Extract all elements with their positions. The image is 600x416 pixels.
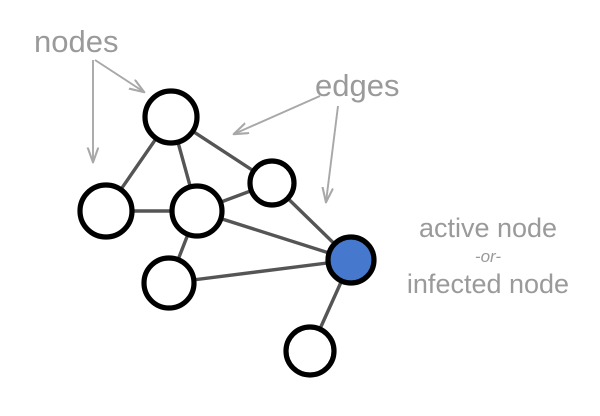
edges-arrow-upper-left <box>234 96 320 134</box>
nodes-arrow-to-top-node <box>95 60 144 92</box>
legend-infected-node-label: infected node <box>388 270 588 299</box>
node-center[interactable] <box>172 186 222 236</box>
nodes-layer <box>80 91 374 375</box>
edges-layer <box>106 117 351 351</box>
node-left[interactable] <box>80 185 132 237</box>
nodes-annotation-label: nodes <box>34 26 118 57</box>
diagram-canvas: nodes edges active node -or- infected no… <box>0 0 600 416</box>
annotation-arrows-layer <box>93 60 338 202</box>
node-bottom-right[interactable] <box>286 327 334 375</box>
node-bottom-left[interactable] <box>144 258 194 308</box>
legend-or-separator: -or- <box>388 243 588 270</box>
network-graph <box>0 0 600 416</box>
edges-annotation-label: edges <box>315 70 399 101</box>
node-upper-right[interactable] <box>250 161 294 205</box>
active-node-legend: active node -or- infected node <box>388 214 588 300</box>
edges-arrow-down <box>326 106 338 202</box>
node-active[interactable] <box>328 237 374 283</box>
node-top[interactable] <box>145 91 197 143</box>
legend-active-node-label: active node <box>388 214 588 243</box>
